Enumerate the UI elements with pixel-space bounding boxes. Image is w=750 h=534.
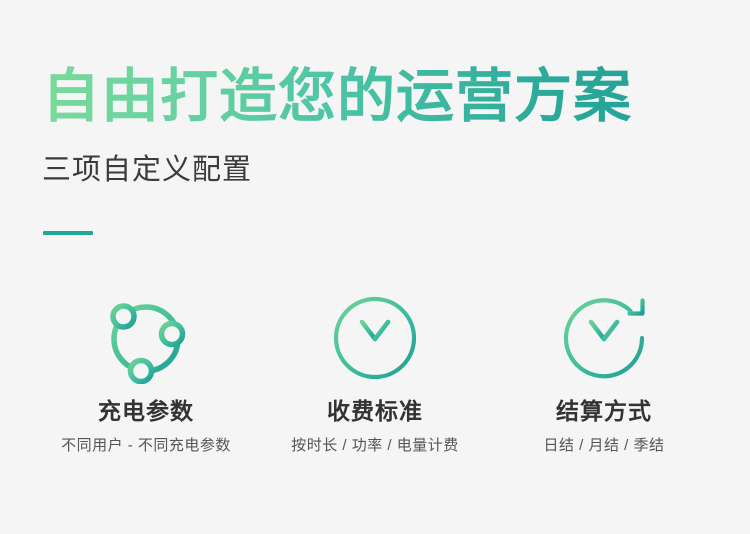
feature-item[interactable]: 收费标准 按时长 / 功率 / 电量计费 xyxy=(275,292,475,457)
header-block: 自由打造您的运营方案 三项自定义配置 xyxy=(42,62,702,188)
yen-circle-icon xyxy=(329,292,421,384)
page-title: 自由打造您的运营方案 xyxy=(42,62,702,132)
feature-description: 日结 / 月结 / 季结 xyxy=(543,435,664,457)
feature-item[interactable]: 充电参数 不同用户 - 不同充电参数 xyxy=(46,292,246,457)
feature-title: 结算方式 xyxy=(556,396,652,426)
feature-title: 收费标准 xyxy=(327,396,423,426)
feature-description: 不同用户 - 不同充电参数 xyxy=(61,435,231,457)
feature-list: 充电参数 不同用户 - 不同充电参数 xyxy=(0,292,750,457)
feature-title: 充电参数 xyxy=(98,396,194,426)
page-subtitle: 三项自定义配置 xyxy=(42,152,702,188)
feature-description: 按时长 / 功率 / 电量计费 xyxy=(291,435,459,457)
promo-banner: 自由打造您的运营方案 三项自定义配置 xyxy=(0,0,750,534)
charging-parameters-icon xyxy=(100,292,192,384)
accent-divider xyxy=(43,231,93,235)
yen-refresh-icon xyxy=(558,292,650,384)
feature-item[interactable]: 结算方式 日结 / 月结 / 季结 xyxy=(504,292,704,457)
